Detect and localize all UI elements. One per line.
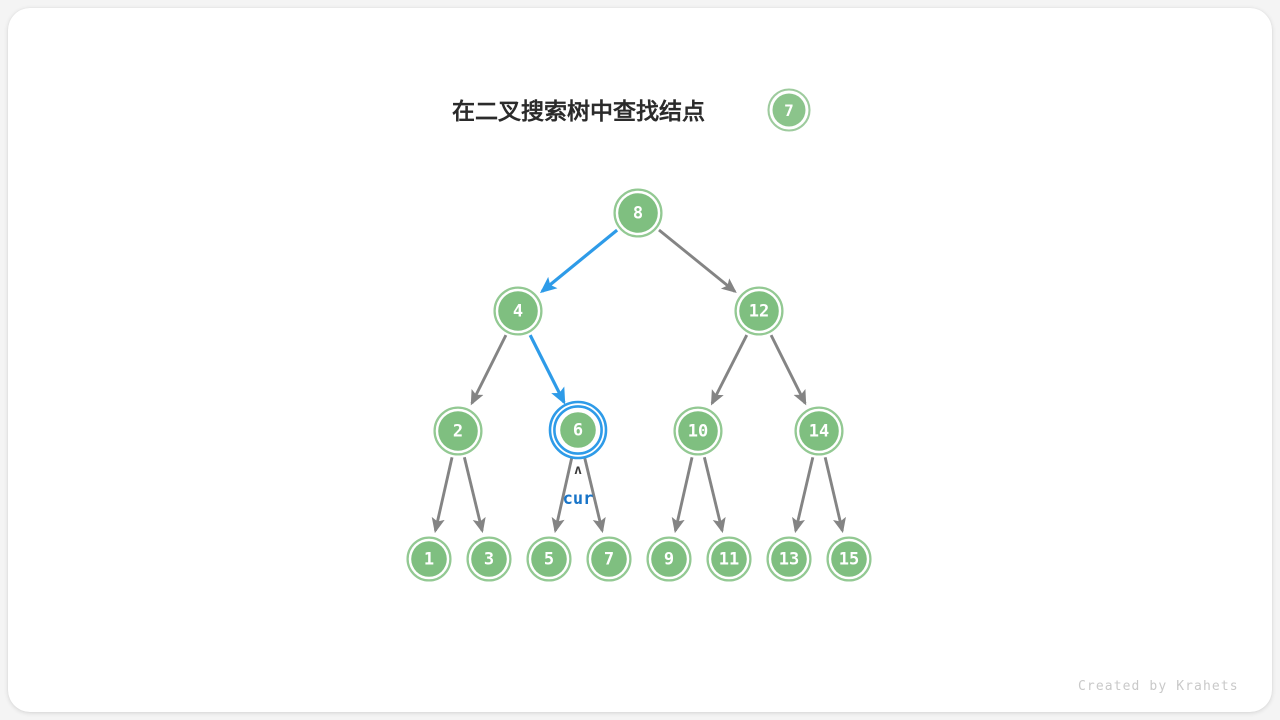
page-title: 在二叉搜索树中查找结点 <box>452 98 705 125</box>
tree-node-7[interactable]: 7 <box>588 538 631 581</box>
tree-edge <box>435 457 452 530</box>
tree-node-5[interactable]: 5 <box>528 538 571 581</box>
tree-node-14[interactable]: 14 <box>796 408 843 455</box>
node-value: 3 <box>484 550 494 570</box>
cur-pointer-label: cur <box>563 489 594 509</box>
node-value: 7 <box>604 550 614 570</box>
title-badge: 7 <box>769 90 810 131</box>
tree-node-8[interactable]: 8 <box>615 190 662 237</box>
tree-node-2[interactable]: 2 <box>435 408 482 455</box>
tree-edge <box>704 457 722 531</box>
tree-node-layer: 841226101413579111315 <box>408 190 871 581</box>
tree-edge <box>712 335 747 403</box>
title-badge-value: 7 <box>784 101 794 120</box>
tree-edge <box>771 335 805 403</box>
node-value: 4 <box>513 302 523 322</box>
node-value: 6 <box>573 421 583 441</box>
cur-pointer-caret-icon: ʌ <box>574 463 582 478</box>
tree-edge <box>472 335 506 403</box>
tree-node-12[interactable]: 12 <box>736 288 783 335</box>
node-value: 8 <box>633 204 643 224</box>
tree-node-10[interactable]: 10 <box>675 408 722 455</box>
tree-edge <box>825 457 842 530</box>
tree-edge <box>542 230 617 291</box>
binary-search-tree-diagram: 841226101413579111315 在二叉搜索树中查找结点 7 ʌ cu… <box>0 0 1280 720</box>
tree-edge-layer <box>435 230 842 531</box>
tree-edge <box>530 335 564 402</box>
credit-text: Created by Krahets <box>1078 679 1239 694</box>
tree-node-11[interactable]: 11 <box>708 538 751 581</box>
node-value: 5 <box>544 550 554 570</box>
tree-node-4[interactable]: 4 <box>495 288 542 335</box>
node-value: 2 <box>453 422 463 442</box>
page-background: 841226101413579111315 在二叉搜索树中查找结点 7 ʌ cu… <box>0 0 1280 720</box>
node-value: 14 <box>809 422 829 442</box>
tree-node-9[interactable]: 9 <box>648 538 691 581</box>
diagram-title-group: 在二叉搜索树中查找结点 7 <box>452 90 810 131</box>
tree-edge <box>675 457 692 530</box>
tree-node-15[interactable]: 15 <box>828 538 871 581</box>
tree-edge <box>796 457 813 530</box>
node-value: 9 <box>664 550 674 570</box>
node-value: 15 <box>839 550 859 570</box>
tree-node-6[interactable]: 6 <box>550 402 606 458</box>
tree-node-1[interactable]: 1 <box>408 538 451 581</box>
node-value: 1 <box>424 550 434 570</box>
tree-edge <box>464 457 482 531</box>
node-value: 11 <box>719 550 739 570</box>
node-value: 12 <box>749 302 769 322</box>
tree-edge <box>659 230 735 291</box>
node-value: 13 <box>779 550 799 570</box>
tree-node-13[interactable]: 13 <box>768 538 811 581</box>
tree-node-3[interactable]: 3 <box>468 538 511 581</box>
node-value: 10 <box>688 422 708 442</box>
